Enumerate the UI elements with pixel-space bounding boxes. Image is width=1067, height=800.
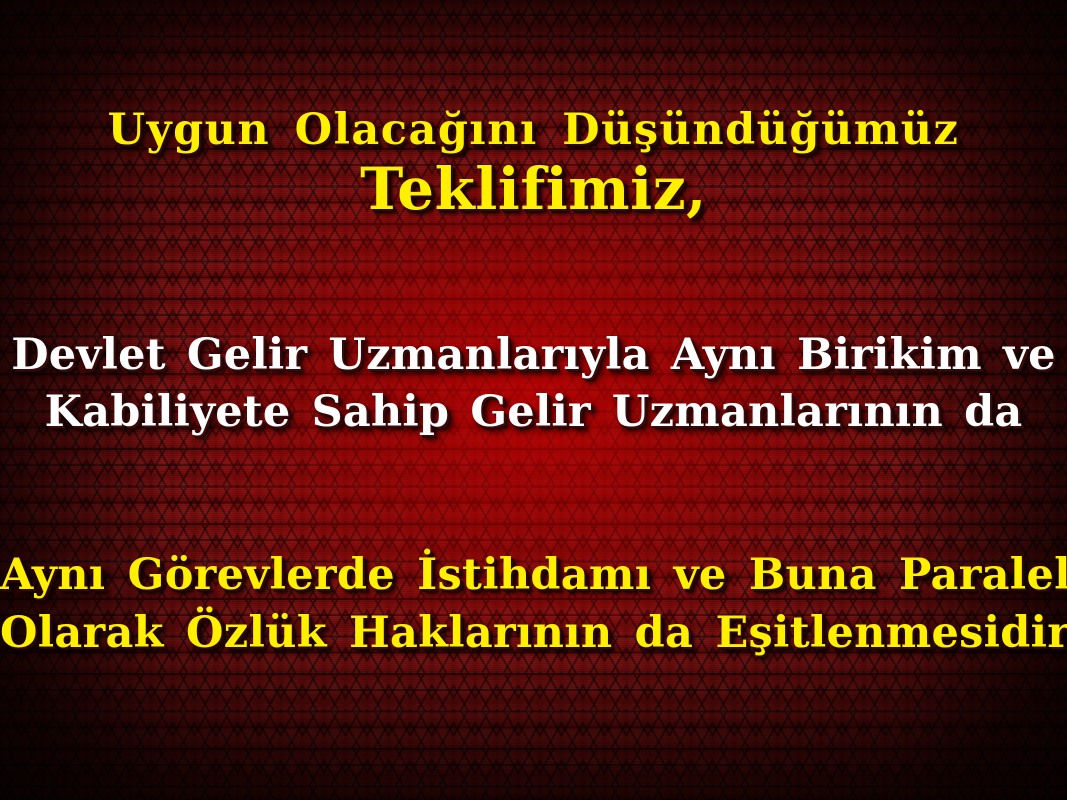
slide-content: Uygun Olacağını Düşündüğümüz Teklifimiz,… — [0, 0, 1067, 800]
title-line-2: Teklifimiz, — [0, 156, 1067, 222]
title-block: Uygun Olacağını Düşündüğümüz Teklifimiz, — [0, 104, 1067, 222]
body-block: Devlet Gelir Uzmanlarıyla Aynı Birikim v… — [0, 327, 1067, 441]
conclusion-line-2: Olarak Özlük Haklarının da Eşitlenmesidi… — [0, 604, 1067, 662]
body-line-2: Kabiliyete Sahip Gelir Uzmanlarının da — [0, 384, 1067, 441]
title-line-1: Uygun Olacağını Düşündüğümüz — [0, 104, 1067, 156]
conclusion-line-1: Aynı Görevlerde İstihdamı ve Buna Parale… — [0, 546, 1067, 604]
conclusion-block: Aynı Görevlerde İstihdamı ve Buna Parale… — [0, 546, 1067, 662]
body-line-1: Devlet Gelir Uzmanlarıyla Aynı Birikim v… — [0, 327, 1067, 384]
presentation-slide: Uygun Olacağını Düşündüğümüz Teklifimiz,… — [0, 0, 1067, 800]
